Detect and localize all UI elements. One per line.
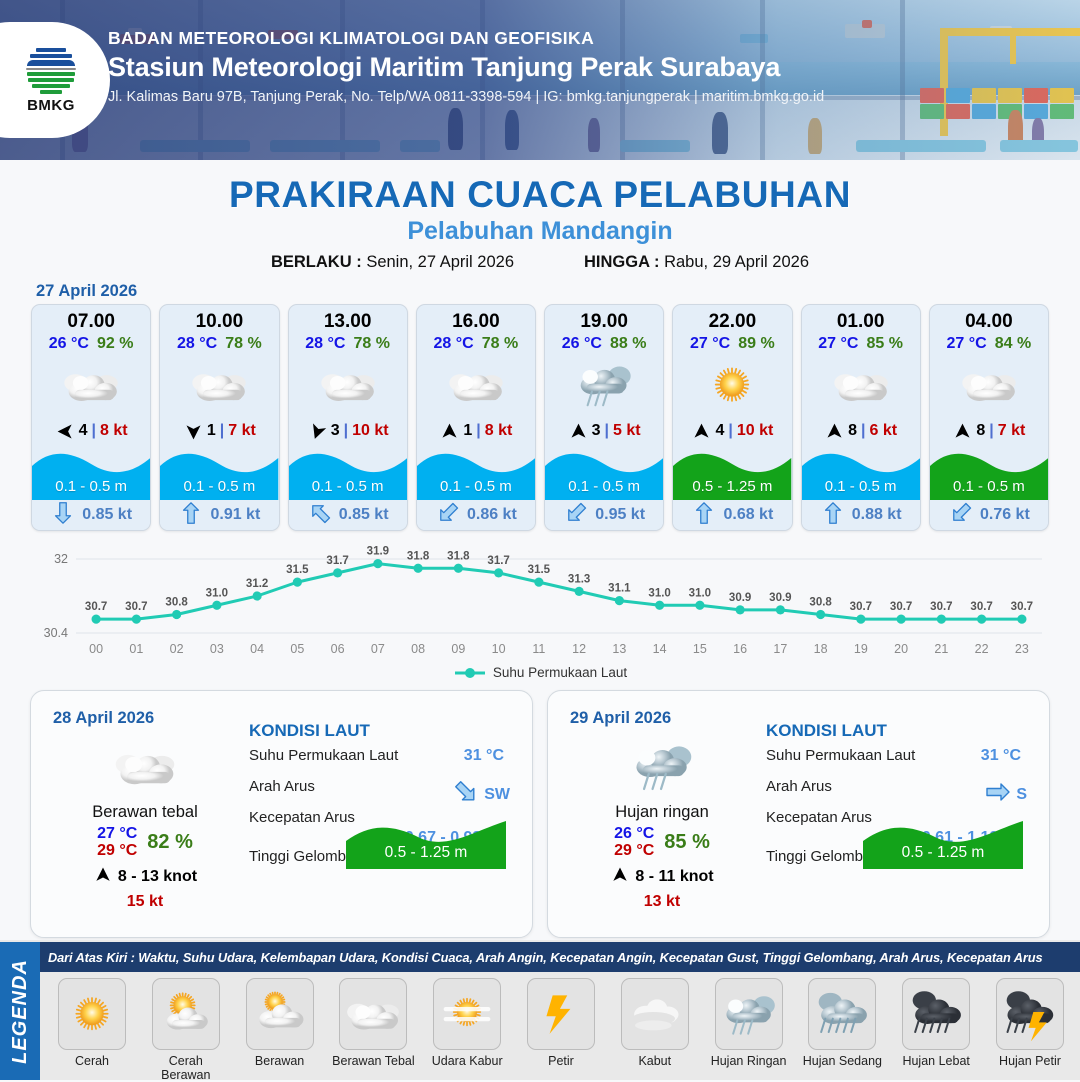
- forecast-day-label: 27 April 2026: [36, 282, 1080, 301]
- hujan-ringan-icon: [562, 735, 762, 797]
- legend-item: Udara Kabur: [425, 978, 509, 1068]
- svg-text:13: 13: [612, 642, 626, 656]
- panel-wind-range: 8 - 11 knot: [635, 868, 713, 886]
- forecast-temp: 28 °C: [305, 335, 345, 353]
- panel-date: 28 April 2026: [53, 709, 154, 728]
- svg-text:06: 06: [331, 642, 345, 656]
- panel-wind-gust: 15 kt: [45, 893, 245, 911]
- berawan-tebal-icon: [802, 354, 920, 416]
- svg-text:30.7: 30.7: [850, 601, 872, 613]
- legend-bar: LEGENDA Dari Atas Kiri : Waktu, Suhu Uda…: [0, 940, 1080, 1080]
- wind-direction-arrow-icon: [824, 421, 844, 441]
- current-row: 0.86 kt: [417, 500, 535, 530]
- forecast-temp-humidity: 28 °C 78 %: [160, 335, 278, 353]
- wind-separator: |: [220, 422, 224, 440]
- current-row: 0.68 kt: [673, 500, 791, 530]
- svg-text:31.0: 31.0: [689, 587, 711, 599]
- wind-gust: 10 kt: [737, 422, 773, 440]
- panel-temp-max: 29 °C: [614, 842, 654, 859]
- current-direction-row: Arah Arus SW: [249, 778, 518, 809]
- legend-note: Dari Atas Kiri : Waktu, Suhu Udara, Kele…: [40, 942, 1080, 972]
- forecast-wind-row: 8 | 7 kt: [930, 416, 1048, 446]
- kabut-icon: [621, 978, 689, 1050]
- legenda-strip: LEGENDA: [0, 942, 40, 1080]
- wind-direction-arrow-icon: [568, 421, 588, 441]
- panel-temp-humidity: 26 °C 29 °C 85 %: [562, 825, 762, 860]
- current-speed: 0.88 kt: [852, 506, 902, 524]
- wave-height-value: 0.1 - 0.5 m: [289, 478, 407, 495]
- wind-speed: 3: [592, 422, 601, 440]
- panel-wind-range: 8 - 13 knot: [118, 868, 197, 886]
- panel-summary: Hujan ringan 26 °C 29 °C 85 % 8 - 11 kno…: [562, 735, 762, 911]
- validity-row: BERLAKU : Senin, 27 April 2026 HINGGA : …: [0, 253, 1080, 272]
- current-speed: 0.91 kt: [210, 506, 260, 524]
- svg-text:10: 10: [492, 642, 506, 656]
- wind-direction-arrow-icon: [952, 421, 972, 441]
- svg-text:12: 12: [572, 642, 586, 656]
- bmkg-logo-mark: [24, 46, 78, 94]
- current-speed: 0.68 kt: [723, 506, 773, 524]
- forecast-time: 16.00: [417, 305, 535, 333]
- forecast-card-strip: 07.00 26 °C 92 % 4 | 8 kt: [0, 304, 1080, 531]
- svg-text:31.0: 31.0: [648, 587, 670, 599]
- forecast-card: 19.00 26 °C 88 % 3 | 5 kt: [544, 304, 664, 531]
- forecast-temp: 28 °C: [177, 335, 217, 353]
- agency-name: BADAN METEOROLOGI KLIMATOLOGI DAN GEOFIS…: [108, 28, 824, 49]
- svg-text:17: 17: [773, 642, 787, 656]
- svg-text:16: 16: [733, 642, 747, 656]
- panel-wave-value: 0.5 - 1.25 m: [863, 844, 1023, 862]
- wind-separator: |: [476, 422, 480, 440]
- bmkg-logo-text: BMKG: [27, 97, 75, 114]
- wave-height-value: 0.5 - 1.25 m: [673, 478, 791, 495]
- valid-from-label: BERLAKU :: [271, 253, 362, 271]
- hujan-ringan-icon: [715, 978, 783, 1050]
- hujan-sedang-icon: [808, 978, 876, 1050]
- legend-item-label: Udara Kabur: [425, 1054, 509, 1068]
- wind-direction-arrow-icon: [610, 865, 630, 890]
- legend-item: Cerah Berawan: [144, 978, 228, 1082]
- panel-wind-gust: 13 kt: [562, 893, 762, 911]
- valid-until-value: Rabu, 29 April 2026: [664, 253, 809, 271]
- svg-text:30.7: 30.7: [970, 601, 992, 613]
- current-direction-arrow-icon: [563, 500, 589, 531]
- wind-separator: |: [861, 422, 865, 440]
- svg-text:31.1: 31.1: [608, 583, 631, 595]
- berawan-tebal-icon: [45, 735, 245, 797]
- daily-forecast-panel: 28 April 2026 Berawan tebal 27 °C 29 °C: [30, 690, 533, 938]
- berawan-tebal-icon: [160, 354, 278, 416]
- berawan-tebal-icon: [32, 354, 150, 416]
- hujan-petir-icon: [996, 978, 1064, 1050]
- forecast-humidity: 78 %: [225, 335, 261, 353]
- current-direction-arrow-icon: [820, 500, 846, 531]
- chart-legend-marker: [453, 667, 487, 679]
- wind-separator: |: [92, 422, 96, 440]
- legend-item: Hujan Ringan: [707, 978, 791, 1068]
- wave-height-value: 0.1 - 0.5 m: [802, 478, 920, 495]
- chart-legend-label: Suhu Permukaan Laut: [493, 665, 627, 680]
- legend-item-label: Hujan Petir: [988, 1054, 1072, 1068]
- wind-direction-arrow-icon: [307, 421, 327, 441]
- cerah-icon: [673, 354, 791, 416]
- svg-text:01: 01: [129, 642, 143, 656]
- svg-text:30.7: 30.7: [125, 601, 147, 613]
- wind-gust: 7 kt: [998, 422, 1026, 440]
- current-direction-label: Arah Arus: [249, 778, 315, 795]
- forecast-humidity: 85 %: [866, 335, 902, 353]
- svg-text:30.8: 30.8: [809, 597, 832, 609]
- legend-item-label: Berawan: [238, 1054, 322, 1068]
- current-direction-arrow-icon: [178, 500, 204, 531]
- forecast-temp: 28 °C: [434, 335, 474, 353]
- forecast-card: 13.00 28 °C 78 % 3 | 10 kt: [288, 304, 408, 531]
- svg-text:31.7: 31.7: [487, 555, 509, 567]
- valid-from: BERLAKU : Senin, 27 April 2026: [271, 253, 514, 272]
- legend-item: Cerah: [50, 978, 134, 1068]
- forecast-wind-row: 8 | 6 kt: [802, 416, 920, 446]
- current-direction-text: S: [1016, 786, 1027, 804]
- svg-text:31.5: 31.5: [286, 564, 309, 576]
- daily-forecast-panels: 28 April 2026 Berawan tebal 27 °C 29 °C: [0, 690, 1080, 938]
- forecast-time: 07.00: [32, 305, 150, 333]
- svg-text:31.8: 31.8: [407, 550, 430, 562]
- forecast-temp-humidity: 28 °C 78 %: [289, 335, 407, 353]
- wave-height-value: 0.1 - 0.5 m: [32, 478, 150, 495]
- forecast-temp-humidity: 27 °C 89 %: [673, 335, 791, 353]
- legend-icon-list: Cerah Cerah Berawan Berawan: [40, 972, 1080, 1080]
- svg-text:30.7: 30.7: [85, 601, 107, 613]
- current-direction-arrow-icon: [948, 500, 974, 531]
- forecast-wind-row: 3 | 10 kt: [289, 416, 407, 446]
- wind-gust: 5 kt: [613, 422, 641, 440]
- svg-text:21: 21: [934, 642, 948, 656]
- svg-text:00: 00: [89, 642, 103, 656]
- svg-text:05: 05: [290, 642, 304, 656]
- wave-height-block: 0.5 - 1.25 m: [673, 444, 791, 500]
- svg-text:09: 09: [451, 642, 465, 656]
- page-header: BMKG BADAN METEOROLOGI KLIMATOLOGI DAN G…: [0, 0, 1080, 160]
- svg-text:14: 14: [653, 642, 667, 656]
- current-row: 0.76 kt: [930, 500, 1048, 530]
- legend-item-label: Hujan Ringan: [707, 1054, 791, 1068]
- svg-text:30.9: 30.9: [769, 592, 791, 604]
- svg-text:31.5: 31.5: [528, 564, 551, 576]
- wave-height-block: 0.1 - 0.5 m: [32, 444, 150, 500]
- current-speed-label: Kecepatan Arus: [249, 809, 355, 826]
- svg-text:31.0: 31.0: [206, 587, 228, 599]
- wind-gust: 8 kt: [485, 422, 513, 440]
- wind-direction-arrow-icon: [691, 421, 711, 441]
- current-row: 0.85 kt: [32, 500, 150, 530]
- svg-text:30.7: 30.7: [890, 601, 912, 613]
- wave-height-block: 0.1 - 0.5 m: [802, 444, 920, 500]
- forecast-card: 22.00 27 °C 89 % 4 | 10 kt 0.5 - 1.25 m …: [672, 304, 792, 531]
- current-speed: 0.85 kt: [82, 506, 132, 524]
- panel-wind-row: 8 - 13 knot: [45, 865, 245, 890]
- panel-condition: Berawan tebal: [45, 803, 245, 822]
- forecast-humidity: 89 %: [738, 335, 774, 353]
- current-direction-arrow-icon: [307, 500, 333, 531]
- cerah-icon: [58, 978, 126, 1050]
- forecast-card: 07.00 26 °C 92 % 4 | 8 kt: [31, 304, 151, 531]
- current-direction-arrow-icon: [50, 500, 76, 531]
- current-row: 0.95 kt: [545, 500, 663, 530]
- petir-icon: [527, 978, 595, 1050]
- forecast-temp: 27 °C: [690, 335, 730, 353]
- forecast-time: 10.00: [160, 305, 278, 333]
- wind-gust: 6 kt: [870, 422, 898, 440]
- legend-item-label: Cerah: [50, 1054, 134, 1068]
- wave-height-value: 0.1 - 0.5 m: [930, 478, 1048, 495]
- current-direction-row: Arah Arus S: [766, 778, 1035, 809]
- wind-direction-arrow-icon: [439, 421, 459, 441]
- svg-text:31.3: 31.3: [568, 573, 590, 585]
- forecast-time: 19.00: [545, 305, 663, 333]
- wave-height-value: 0.1 - 0.5 m: [417, 478, 535, 495]
- wind-speed: 8: [976, 422, 985, 440]
- panel-wave-block: 0.5 - 1.25 m: [346, 807, 506, 869]
- forecast-temp-humidity: 27 °C 85 %: [802, 335, 920, 353]
- current-row: 0.85 kt: [289, 500, 407, 530]
- svg-text:32: 32: [54, 552, 68, 566]
- svg-text:19: 19: [854, 642, 868, 656]
- current-row: 0.88 kt: [802, 500, 920, 530]
- wave-height-block: 0.1 - 0.5 m: [417, 444, 535, 500]
- svg-text:18: 18: [814, 642, 828, 656]
- berawan-tebal-icon: [417, 354, 535, 416]
- current-speed: 0.86 kt: [467, 506, 517, 524]
- wave-height-block: 0.1 - 0.5 m: [930, 444, 1048, 500]
- forecast-card: 04.00 27 °C 84 % 8 | 7 kt: [929, 304, 1049, 531]
- current-speed: 0.95 kt: [595, 506, 645, 524]
- svg-text:31.8: 31.8: [447, 550, 470, 562]
- wind-direction-arrow-icon: [183, 421, 203, 441]
- forecast-card: 16.00 28 °C 78 % 1 | 8 kt: [416, 304, 536, 531]
- svg-text:30.9: 30.9: [729, 592, 751, 604]
- cerah-berawan-icon: [152, 978, 220, 1050]
- legend-item-label: Petir: [519, 1054, 603, 1068]
- wind-separator: |: [605, 422, 609, 440]
- wind-gust: 7 kt: [228, 422, 256, 440]
- panel-sea-conditions: KONDISI LAUT Suhu Permukaan Laut 31 °C A…: [249, 721, 518, 879]
- wave-height-block: 0.1 - 0.5 m: [289, 444, 407, 500]
- sst-label: Suhu Permukaan Laut: [766, 747, 915, 764]
- sst-chart: 30.43230.70030.70130.80231.00331.20431.5…: [0, 545, 1080, 663]
- svg-text:04: 04: [250, 642, 264, 656]
- panel-wind-row: 8 - 11 knot: [562, 865, 762, 890]
- svg-text:08: 08: [411, 642, 425, 656]
- wind-speed: 3: [331, 422, 340, 440]
- sst-chart-svg: 30.43230.70030.70130.80231.00331.20431.5…: [28, 545, 1052, 663]
- forecast-time: 01.00: [802, 305, 920, 333]
- forecast-humidity: 84 %: [995, 335, 1031, 353]
- panel-temp-max: 29 °C: [97, 842, 137, 859]
- forecast-humidity: 78 %: [482, 335, 518, 353]
- wave-height-value: 0.1 - 0.5 m: [160, 478, 278, 495]
- forecast-temp-humidity: 26 °C 92 %: [32, 335, 150, 353]
- forecast-temp: 27 °C: [947, 335, 987, 353]
- panel-condition: Hujan ringan: [562, 803, 762, 822]
- current-direction-label: Arah Arus: [766, 778, 832, 795]
- sst-value: 31 °C: [464, 747, 504, 765]
- legenda-strip-label: LEGENDA: [9, 959, 32, 1064]
- valid-from-value: Senin, 27 April 2026: [366, 253, 514, 271]
- wind-speed: 4: [715, 422, 724, 440]
- wind-separator: |: [344, 422, 348, 440]
- wind-gust: 10 kt: [352, 422, 388, 440]
- sea-conditions-title: KONDISI LAUT: [249, 721, 518, 741]
- forecast-temp-humidity: 28 °C 78 %: [417, 335, 535, 353]
- berawan-icon: [246, 978, 314, 1050]
- forecast-wind-row: 3 | 5 kt: [545, 416, 663, 446]
- wind-speed: 1: [463, 422, 472, 440]
- station-contact: Jl. Kalimas Baru 97B, Tanjung Perak, No.…: [108, 89, 824, 105]
- svg-text:15: 15: [693, 642, 707, 656]
- svg-text:02: 02: [170, 642, 184, 656]
- panel-summary: Berawan tebal 27 °C 29 °C 82 % 8 - 13 kn…: [45, 735, 245, 911]
- svg-text:30.8: 30.8: [165, 597, 188, 609]
- forecast-humidity: 88 %: [610, 335, 646, 353]
- valid-until-label: HINGGA :: [584, 253, 659, 271]
- legend-item-label: Kabut: [613, 1054, 697, 1068]
- forecast-wind-row: 1 | 8 kt: [417, 416, 535, 446]
- sst-value: 31 °C: [981, 747, 1021, 765]
- forecast-temp-humidity: 27 °C 84 %: [930, 335, 1048, 353]
- svg-text:30.7: 30.7: [930, 601, 952, 613]
- current-speed-label: Kecepatan Arus: [766, 809, 872, 826]
- sst-row: Suhu Permukaan Laut 31 °C: [249, 747, 518, 778]
- forecast-time: 22.00: [673, 305, 791, 333]
- wind-separator: |: [989, 422, 993, 440]
- forecast-wind-row: 1 | 7 kt: [160, 416, 278, 446]
- forecast-temp: 26 °C: [562, 335, 602, 353]
- berawan-tebal-icon: [930, 354, 1048, 416]
- hujan-lebat-icon: [902, 978, 970, 1050]
- panel-wave-value: 0.5 - 1.25 m: [346, 844, 506, 862]
- hujan-ringan-icon: [545, 354, 663, 416]
- legend-item: Hujan Sedang: [800, 978, 884, 1068]
- svg-text:11: 11: [532, 642, 545, 656]
- panel-date: 29 April 2026: [570, 709, 671, 728]
- page-subtitle: Pelabuhan Mandangin: [0, 217, 1080, 246]
- legend-item-label: Berawan Tebal: [331, 1054, 415, 1068]
- legend-item-label: Hujan Lebat: [894, 1054, 978, 1068]
- current-direction-text: SW: [484, 786, 510, 804]
- forecast-card: 01.00 27 °C 85 % 8 | 6 kt: [801, 304, 921, 531]
- svg-text:20: 20: [894, 642, 908, 656]
- current-speed: 0.76 kt: [980, 506, 1030, 524]
- panel-temp-humidity: 27 °C 29 °C 82 %: [45, 825, 245, 860]
- forecast-wind-row: 4 | 10 kt: [673, 416, 791, 446]
- legend-item: Berawan: [238, 978, 322, 1068]
- berawan-tebal-icon: [339, 978, 407, 1050]
- panel-wave-block: 0.5 - 1.25 m: [863, 807, 1023, 869]
- legend-item: Petir: [519, 978, 603, 1068]
- wave-height-block: 0.1 - 0.5 m: [160, 444, 278, 500]
- forecast-time: 04.00: [930, 305, 1048, 333]
- panel-humidity: 85 %: [664, 831, 710, 854]
- panel-temp-range: 26 °C 29 °C: [614, 825, 654, 860]
- wave-height-block: 0.1 - 0.5 m: [545, 444, 663, 500]
- current-direction-arrow-icon: [691, 500, 717, 531]
- svg-text:07: 07: [371, 642, 385, 656]
- forecast-humidity: 92 %: [97, 335, 133, 353]
- forecast-wind-row: 4 | 8 kt: [32, 416, 150, 446]
- legend-item: Berawan Tebal: [331, 978, 415, 1068]
- forecast-time: 13.00: [289, 305, 407, 333]
- legend-item-label: Hujan Sedang: [800, 1054, 884, 1068]
- sst-label: Suhu Permukaan Laut: [249, 747, 398, 764]
- header-text-block: BADAN METEOROLOGI KLIMATOLOGI DAN GEOFIS…: [108, 28, 824, 105]
- wind-speed: 1: [207, 422, 216, 440]
- valid-until: HINGGA : Rabu, 29 April 2026: [584, 253, 809, 272]
- forecast-temp: 27 °C: [818, 335, 858, 353]
- forecast-temp: 26 °C: [49, 335, 89, 353]
- wind-separator: |: [728, 422, 732, 440]
- forecast-humidity: 78 %: [353, 335, 389, 353]
- current-row: 0.91 kt: [160, 500, 278, 530]
- svg-text:22: 22: [975, 642, 989, 656]
- page-title: PRAKIRAAN CUACA PELABUHAN: [0, 174, 1080, 216]
- station-name: Stasiun Meteorologi Maritim Tanjung Pera…: [108, 52, 824, 83]
- sst-row: Suhu Permukaan Laut 31 °C: [766, 747, 1035, 778]
- panel-temp-range: 27 °C 29 °C: [97, 825, 137, 860]
- panel-sea-conditions: KONDISI LAUT Suhu Permukaan Laut 31 °C A…: [766, 721, 1035, 879]
- wind-speed: 4: [79, 422, 88, 440]
- wind-direction-arrow-icon: [55, 421, 75, 441]
- svg-text:03: 03: [210, 642, 224, 656]
- wind-direction-arrow-icon: [93, 865, 113, 890]
- svg-text:31.9: 31.9: [367, 546, 389, 558]
- svg-text:30.4: 30.4: [44, 626, 68, 640]
- legend-item: Kabut: [613, 978, 697, 1068]
- forecast-card: 10.00 28 °C 78 % 1 | 7 kt: [159, 304, 279, 531]
- current-speed: 0.85 kt: [339, 506, 389, 524]
- svg-text:31.7: 31.7: [326, 555, 348, 567]
- current-direction-arrow-icon: [435, 500, 461, 531]
- wind-gust: 8 kt: [100, 422, 128, 440]
- daily-forecast-panel: 29 April 2026 Hujan ringan 26 °C 29 °C: [547, 690, 1050, 938]
- sea-conditions-title: KONDISI LAUT: [766, 721, 1035, 741]
- legend-item-label: Cerah Berawan: [144, 1054, 228, 1082]
- panel-temp-min: 26 °C: [614, 825, 654, 842]
- forecast-temp-humidity: 26 °C 88 %: [545, 335, 663, 353]
- svg-text:23: 23: [1015, 642, 1029, 656]
- panel-humidity: 82 %: [147, 831, 193, 854]
- legend-item: Hujan Petir: [988, 978, 1072, 1068]
- chart-legend: Suhu Permukaan Laut: [0, 665, 1080, 680]
- legend-item: Hujan Lebat: [894, 978, 978, 1068]
- panel-temp-min: 27 °C: [97, 825, 137, 842]
- wind-speed: 8: [848, 422, 857, 440]
- wave-height-value: 0.1 - 0.5 m: [545, 478, 663, 495]
- svg-text:30.7: 30.7: [1011, 601, 1033, 613]
- berawan-tebal-icon: [289, 354, 407, 416]
- svg-text:31.2: 31.2: [246, 578, 268, 590]
- udara-kabur-icon: [433, 978, 501, 1050]
